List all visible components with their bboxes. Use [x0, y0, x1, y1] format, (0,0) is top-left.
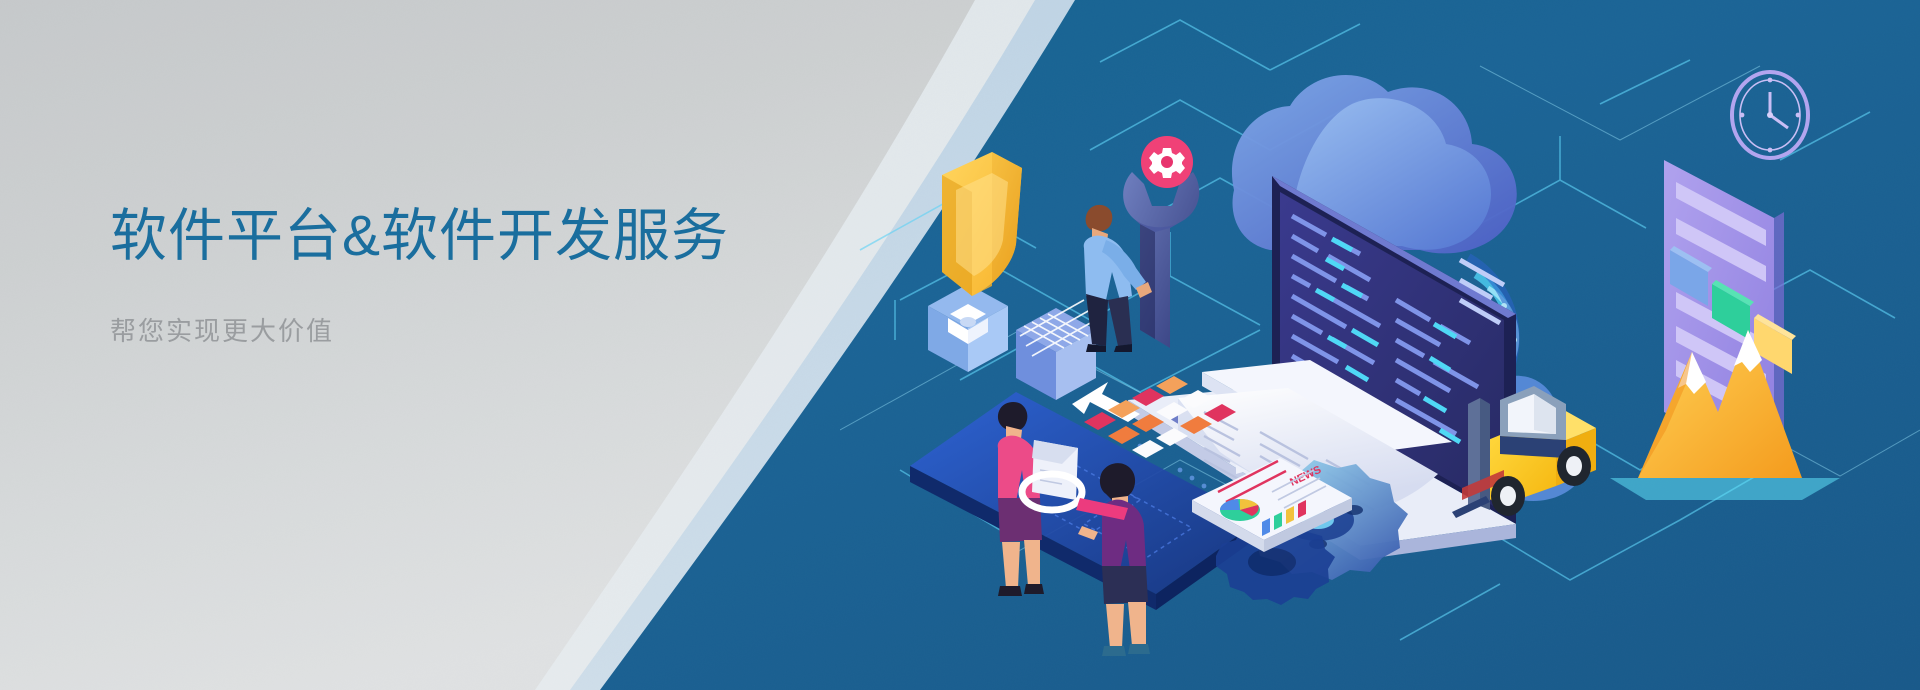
illustration-svg: NEWS: [840, 0, 1920, 690]
solar-panel-icon: [1016, 300, 1096, 400]
clock-icon: [1732, 72, 1808, 158]
hero-text-block: 软件平台&软件开发服务 帮您实现更大价值: [110, 205, 810, 348]
forklift-icon: [1452, 386, 1596, 518]
hero-banner: 软件平台&软件开发服务 帮您实现更大价值: [0, 0, 1920, 690]
camera-icon: [928, 284, 1008, 372]
hero-illustration: NEWS: [840, 0, 1920, 690]
page-title: 软件平台&软件开发服务: [110, 205, 810, 269]
wrench-icon: [1123, 172, 1199, 348]
pie-chart-mini: [1220, 499, 1260, 521]
gear-badge-icon: [1141, 136, 1193, 188]
page-subtitle: 帮您实现更大价值: [110, 311, 810, 348]
